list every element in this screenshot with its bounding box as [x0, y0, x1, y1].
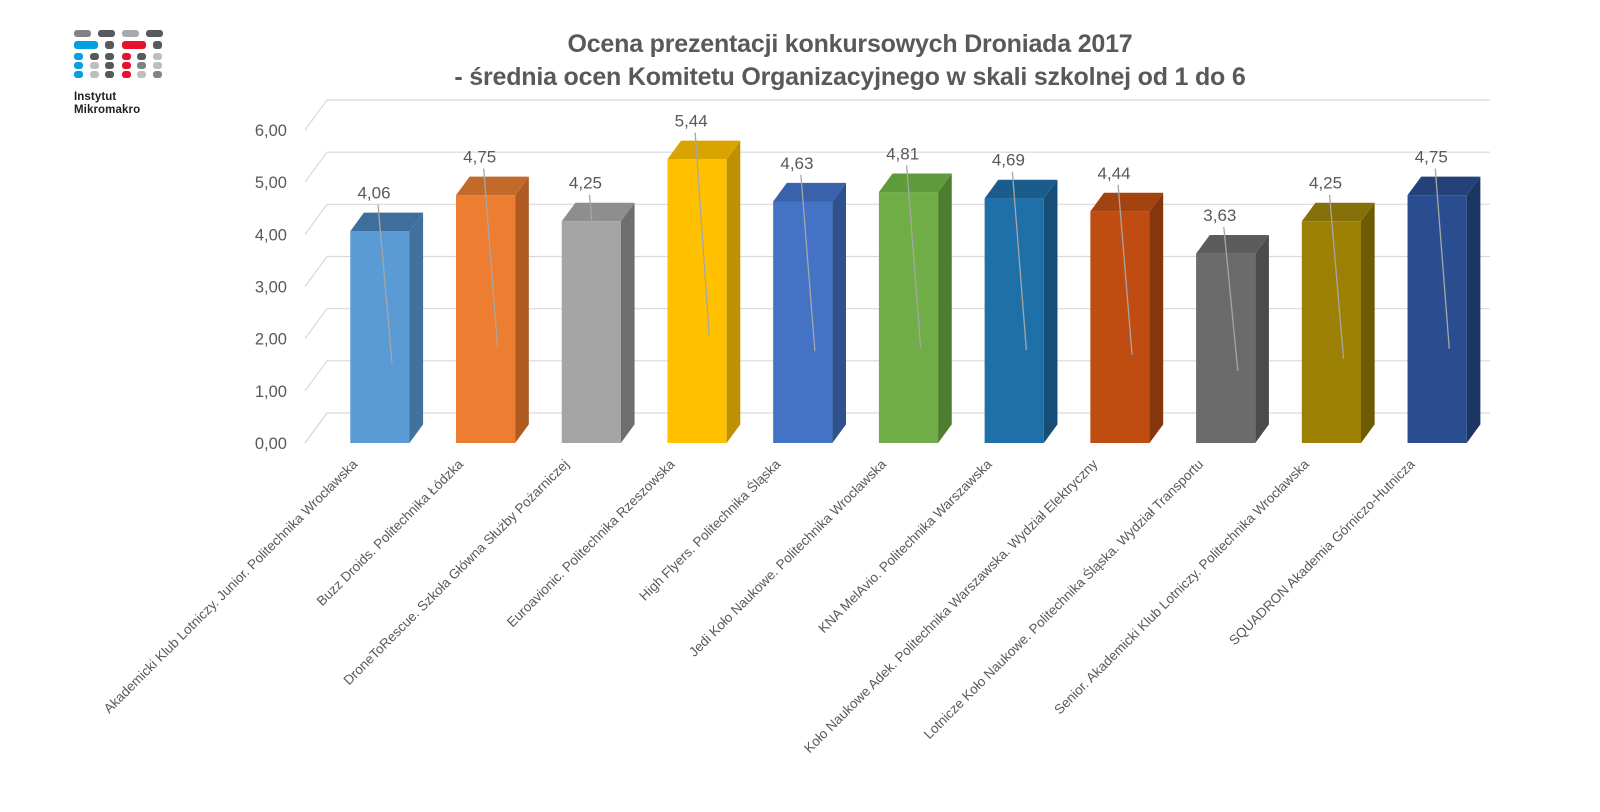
bar-side-face[interactable]	[938, 173, 952, 443]
bar-group[interactable]	[1408, 177, 1481, 443]
bar-side-face[interactable]	[1044, 180, 1058, 443]
bar-group[interactable]	[1090, 193, 1163, 443]
x-axis-category-label: Euroavionic. Politechnika Rzeszowska	[504, 456, 678, 630]
y-axis-tick-label: 5,00	[255, 174, 287, 192]
y-axis-tick-label: 2,00	[255, 331, 287, 349]
bar-front-face[interactable]	[985, 198, 1044, 443]
chart-root: Instytut Mikromakro Ocena prezentacji ko…	[0, 0, 1600, 812]
bar-group[interactable]	[456, 177, 529, 443]
x-axis-category-label: DroneToRescue. Szkoła Główna Służby Poża…	[341, 457, 572, 688]
bar-group[interactable]	[773, 183, 846, 443]
bar-front-face[interactable]	[1302, 221, 1361, 443]
bar-value-label: 4,63	[780, 154, 813, 173]
bar-value-label: 4,69	[992, 151, 1025, 170]
bar-value-label: 4,81	[886, 144, 919, 163]
bar-group[interactable]	[985, 180, 1058, 443]
bar-group[interactable]	[667, 141, 740, 443]
bar-value-label: 4,75	[463, 148, 496, 167]
y-axis-tick-label: 6,00	[255, 122, 287, 140]
bar-front-face[interactable]	[350, 231, 409, 443]
bar-side-face[interactable]	[1361, 203, 1375, 443]
bar-front-face[interactable]	[1196, 254, 1255, 443]
bar-side-face[interactable]	[515, 177, 529, 443]
bar-group[interactable]	[562, 203, 635, 443]
bar-group[interactable]	[879, 173, 952, 443]
bar-value-label: 4,75	[1415, 148, 1448, 167]
x-axis-category-label: SQUADRON Akademia Górniczo-Hutnicza	[1226, 456, 1418, 648]
y-axis-tick-label: 3,00	[255, 279, 287, 297]
bar-value-label: 4,44	[1098, 164, 1131, 183]
bar-front-face[interactable]	[879, 192, 938, 443]
x-axis-category-label: KNA MelAvio. Politechnika Warszawska	[815, 456, 995, 636]
bar-front-face[interactable]	[773, 201, 832, 443]
bar-front-face[interactable]	[1090, 211, 1149, 443]
floor-edge	[305, 413, 327, 443]
bar-side-face[interactable]	[621, 203, 635, 443]
bar-side-face[interactable]	[832, 183, 846, 443]
y-axis-tick-label: 0,00	[255, 435, 287, 453]
bar-group[interactable]	[1302, 203, 1375, 443]
bar-side-face[interactable]	[727, 141, 741, 443]
bar-value-label: 3,63	[1203, 206, 1236, 225]
bar-chart-plot: 0,001,002,003,004,005,006,004,06Akademic…	[0, 0, 1600, 812]
y-axis-tick-label: 1,00	[255, 383, 287, 401]
bar-group[interactable]	[350, 213, 423, 443]
bar-side-face[interactable]	[1255, 235, 1269, 443]
bar-front-face[interactable]	[456, 195, 515, 443]
bar-value-label: 5,44	[675, 112, 708, 131]
bar-front-face[interactable]	[562, 221, 621, 443]
bar-front-face[interactable]	[1408, 195, 1467, 443]
gridline	[305, 100, 1490, 130]
bar-side-face[interactable]	[409, 213, 423, 443]
bar-side-face[interactable]	[1150, 193, 1164, 443]
bar-value-label: 4,25	[569, 174, 602, 193]
x-axis-category-label: Jedi Koło Naukowe. Politechnika Wrocławs…	[686, 456, 889, 659]
bar-value-label: 4,25	[1309, 174, 1342, 193]
x-axis-category-label: Akademicki Klub Lotniczy. Junior. Polite…	[101, 456, 361, 716]
bar-side-face[interactable]	[1467, 177, 1481, 443]
bar-group[interactable]	[1196, 235, 1269, 443]
x-axis-category-label: Senior. Akademicki Klub Lotniczy. Polite…	[1051, 456, 1312, 717]
y-axis-tick-label: 4,00	[255, 226, 287, 244]
bar-front-face[interactable]	[667, 159, 726, 443]
bar-value-label: 4,06	[357, 184, 390, 203]
